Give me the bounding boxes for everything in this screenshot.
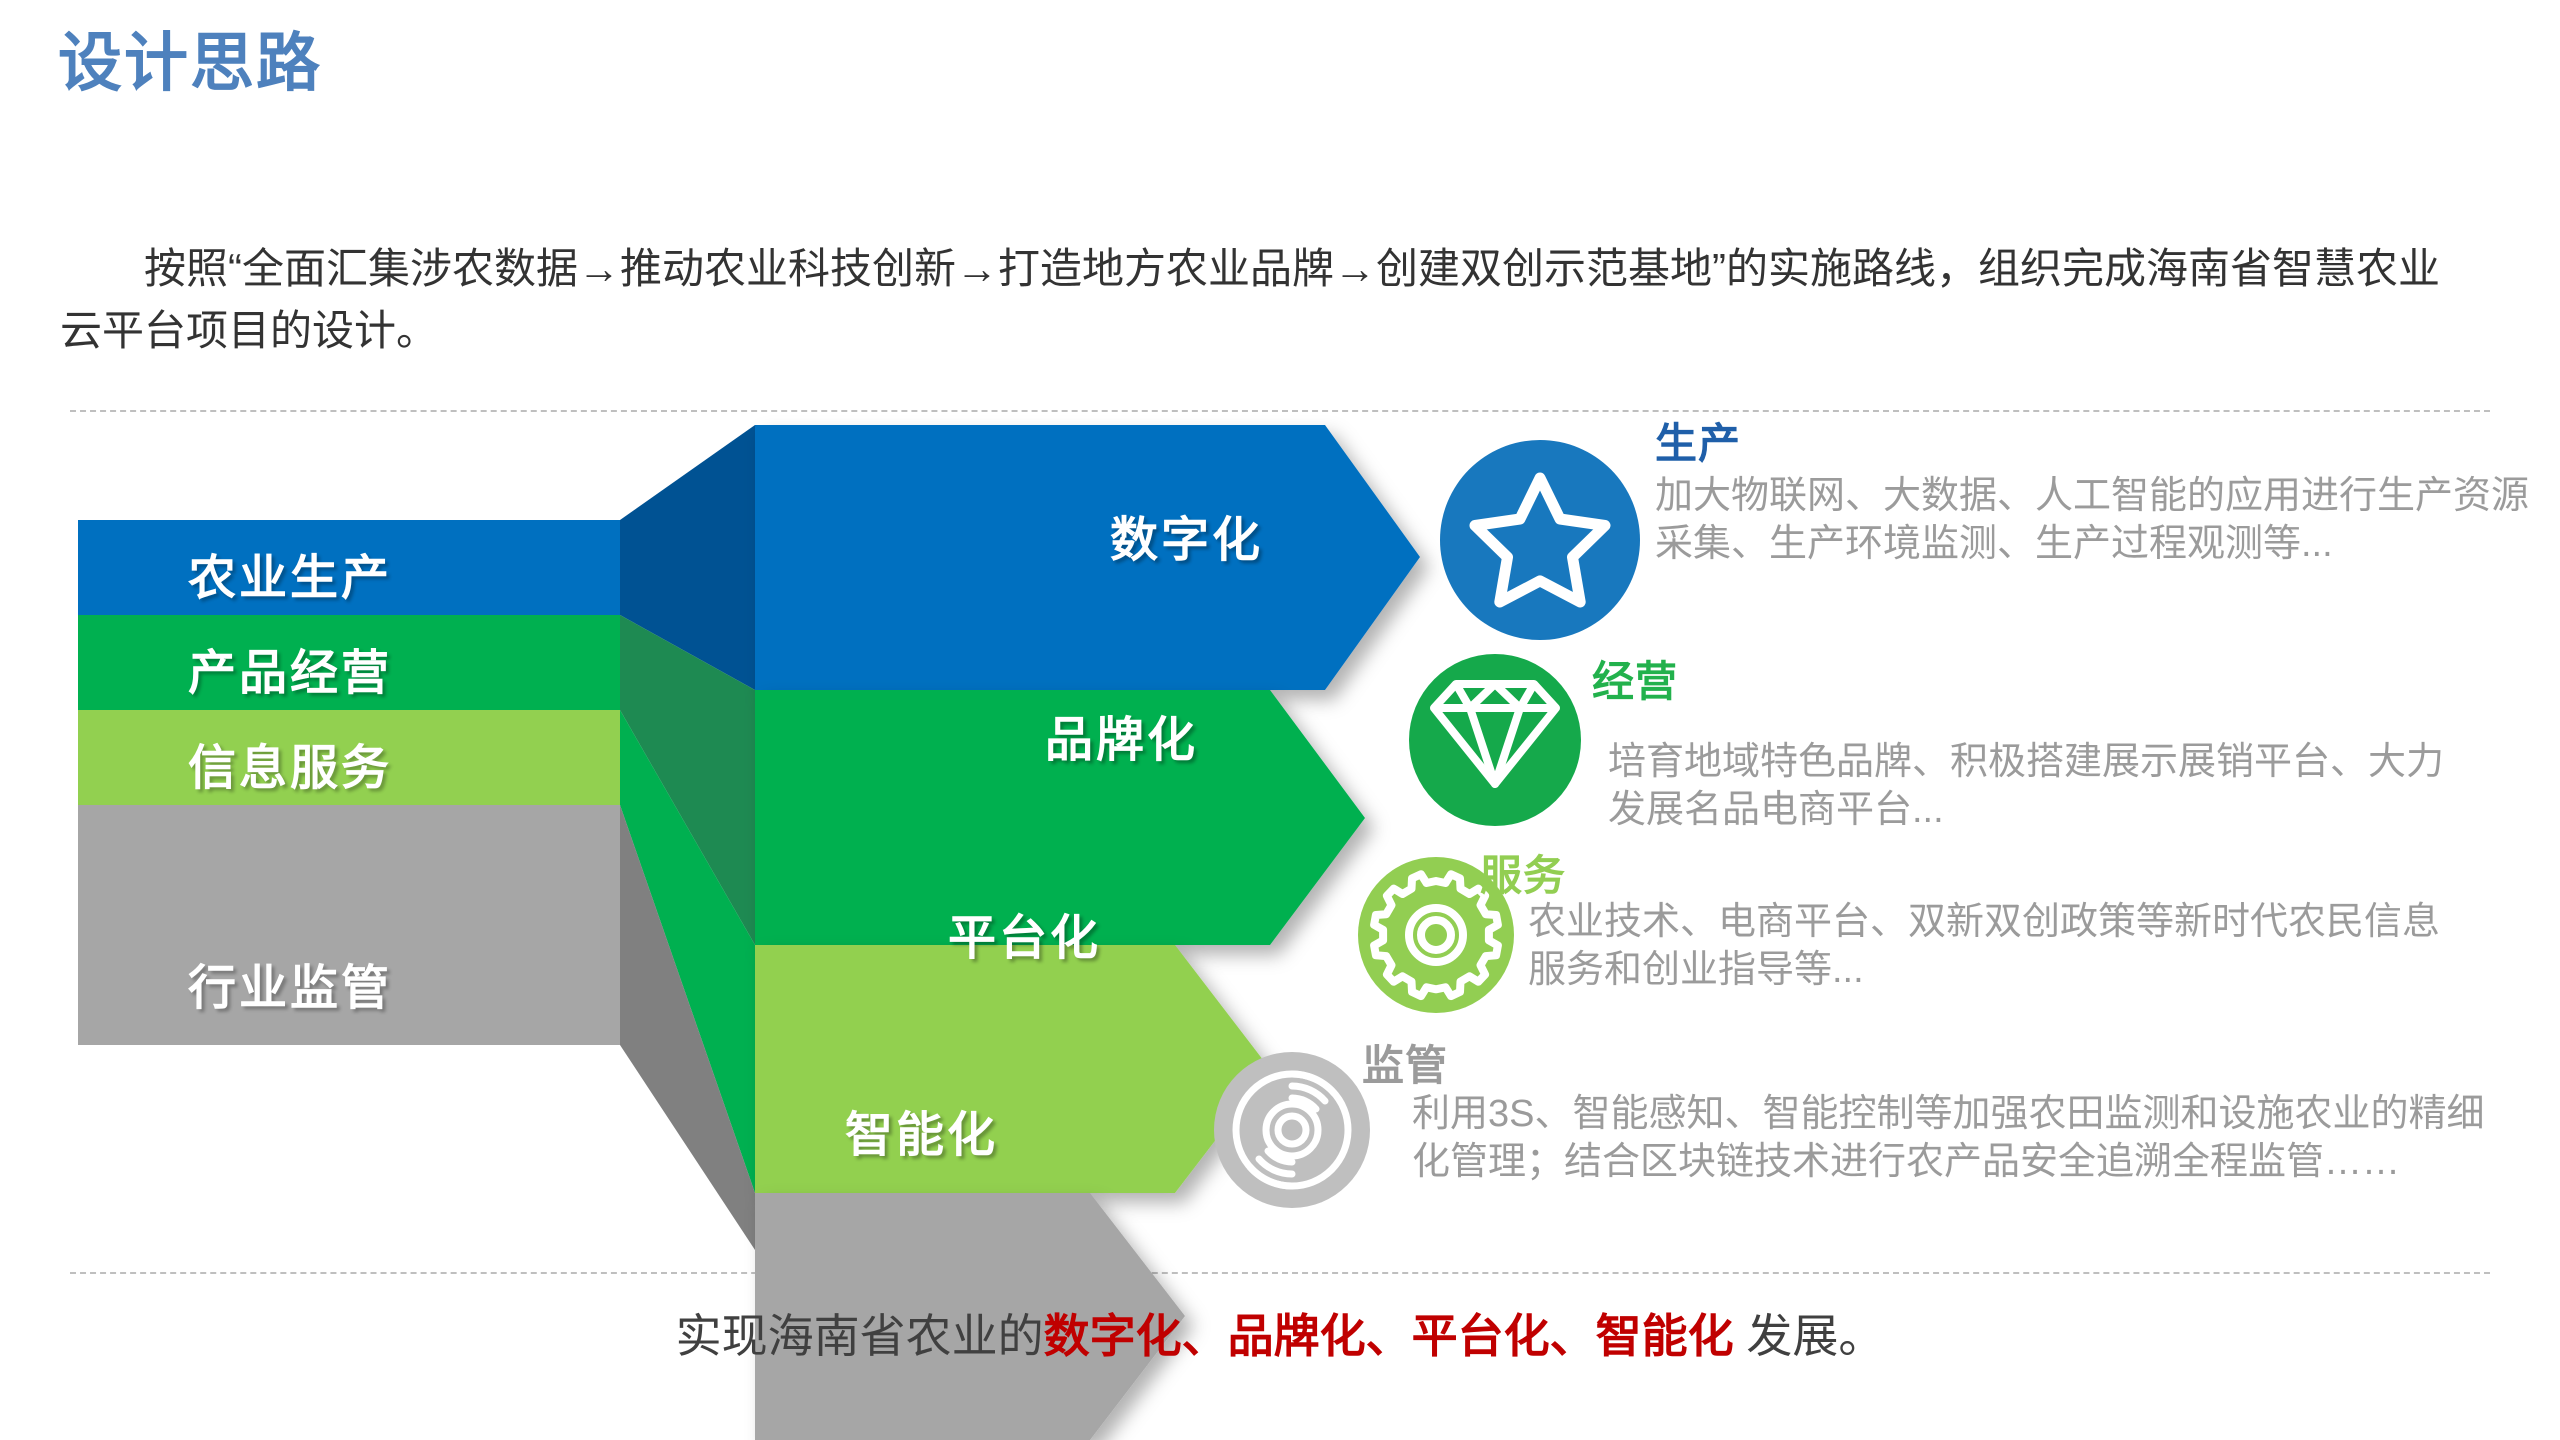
arrow-shape-2 <box>755 945 1270 1193</box>
stack-side-face-3 <box>620 805 755 1250</box>
stack-side-face-2 <box>620 710 755 1193</box>
diamond-icon <box>1434 684 1556 784</box>
divider-bottom <box>70 1272 2490 1274</box>
page-title: 设计思路 <box>58 12 322 104</box>
arrow-label-3: 智能化 <box>845 1095 998 1165</box>
stack-side-face-1 <box>620 615 755 945</box>
info-heading-supervision: 监管 <box>1362 1032 1448 1093</box>
info-body-operation: 培育地域特色品牌、积极搭建展示展销平台、大力发展名品电商平台... <box>1608 738 2463 834</box>
stack-label-0: 农业生产 <box>188 538 392 608</box>
summary-suffix: 发展。 <box>1734 1310 1885 1362</box>
info-circle-supervision <box>1214 1052 1370 1208</box>
intro-paragraph: 按照“全面汇集涉农数据→推动农业科技创新→打造地方农业品牌→创建双创示范基地”的… <box>60 238 2480 362</box>
stack-side-face-0 <box>620 425 755 690</box>
info-heading-production: 生产 <box>1655 410 1741 471</box>
stack-label-2: 信息服务 <box>188 728 392 798</box>
info-body-production: 加大物联网、大数据、人工智能的应用进行生产资源采集、生产环境监测、生产过程观测等… <box>1655 472 2560 568</box>
process-diagram <box>0 0 2560 1440</box>
summary-line: 实现海南省农业的数字化、品牌化、平台化、智能化 发展。 <box>0 1300 2560 1366</box>
summary-prefix: 实现海南省农业的 <box>676 1310 1044 1362</box>
info-circle-production <box>1440 440 1640 640</box>
arrow-label-0: 数字化 <box>1110 500 1263 570</box>
info-body-service: 农业技术、电商平台、双新双创政策等新时代农民信息服务和创业指导等... <box>1528 898 2473 994</box>
stack-label-1: 产品经营 <box>188 633 392 703</box>
divider-top <box>70 410 2490 412</box>
stack-label-3: 行业监管 <box>188 948 392 1018</box>
arrow-label-1: 品牌化 <box>1045 700 1198 770</box>
star-icon <box>1475 478 1605 602</box>
summary-accent: 数字化、品牌化、平台化、智能化 <box>1044 1310 1734 1362</box>
info-heading-operation: 经营 <box>1592 648 1678 709</box>
info-body-supervision: 利用3S、智能感知、智能控制等加强农田监测和设施农业的精细化管理；结合区块链技术… <box>1412 1090 2497 1186</box>
arrow-shape-0 <box>755 425 1420 690</box>
disc-icon <box>1236 1074 1348 1186</box>
info-heading-service: 服务 <box>1480 842 1566 903</box>
arrow-label-2: 平台化 <box>948 898 1101 968</box>
info-circle-operation <box>1409 654 1581 826</box>
